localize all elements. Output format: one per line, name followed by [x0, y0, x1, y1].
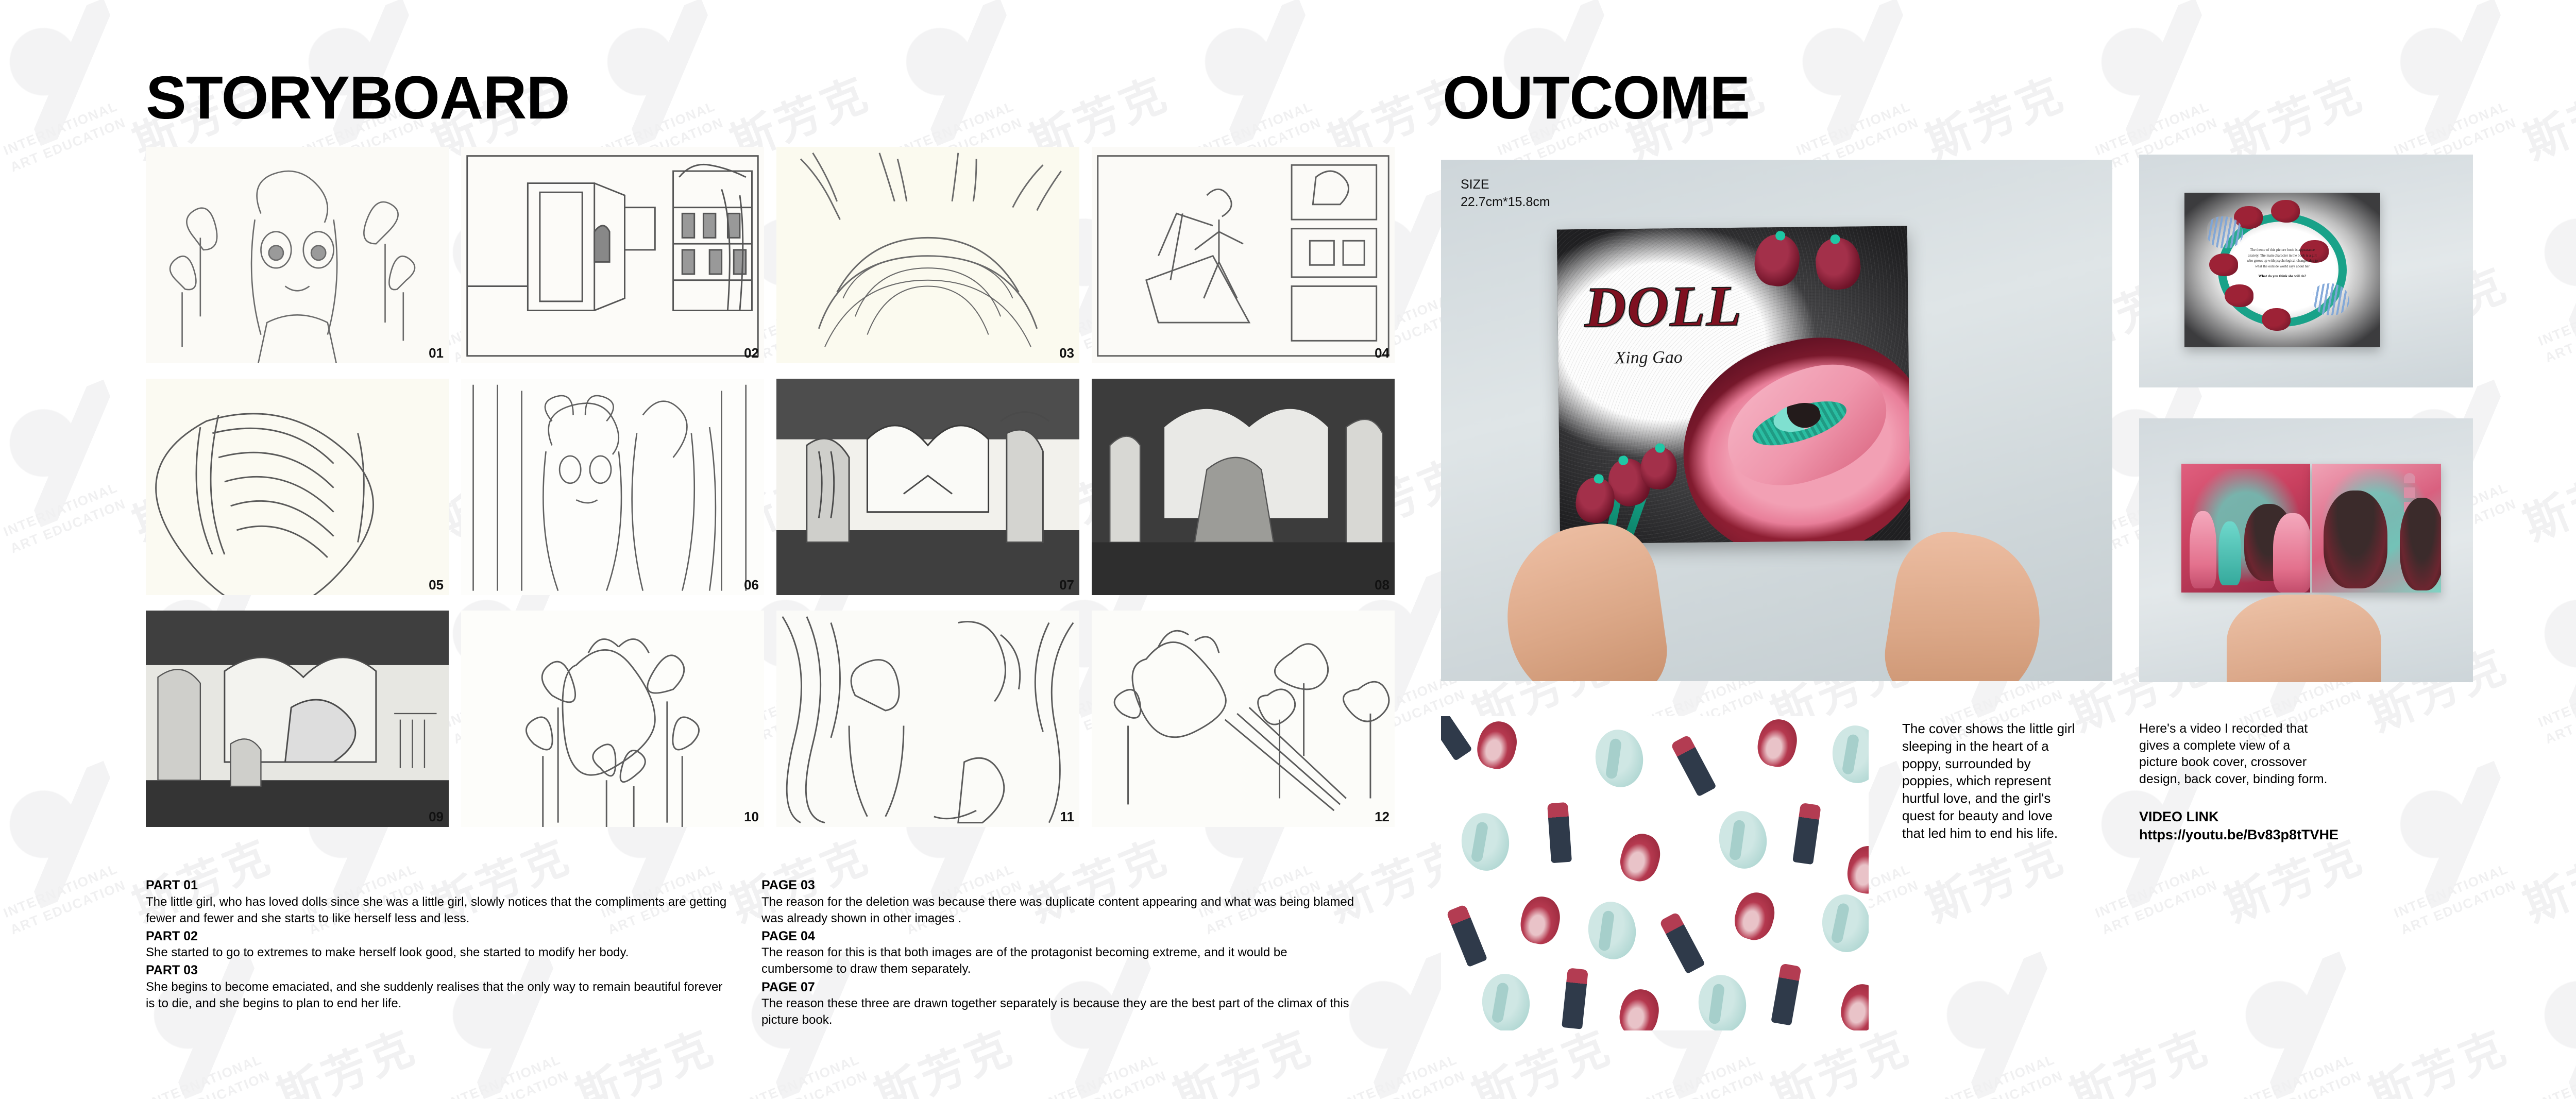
mannequin-dress-teal: [2218, 521, 2241, 585]
storyboard-frame-number: 03: [1059, 345, 1074, 361]
storyboard-sketch-mannequins-dark-room: [1092, 379, 1395, 595]
storyboard-sketch-ribcage-study: [146, 379, 449, 595]
watermark-logo-icon: [0, 761, 146, 908]
watermark-text: INTERNATIONALART EDUCATION: [1, 97, 129, 177]
girl-face-figure: [2324, 491, 2387, 588]
caption-heading: PAGE 07: [761, 979, 1359, 996]
book-page-right: [2312, 464, 2441, 593]
watermark-text: INTERNATIONALART EDUCATION: [2093, 859, 2221, 939]
storyboard-frame[interactable]: 01: [146, 147, 449, 363]
nail-polish-icon: [1517, 893, 1564, 947]
watermark-logo-icon: [2234, 952, 2382, 1099]
nail-polish-icon: [1616, 986, 1663, 1030]
watermark-logo-icon: [2533, 570, 2576, 718]
watermark-text: INTERNATIONALART EDUCATION: [2536, 1050, 2576, 1099]
size-label-text: SIZE: [1461, 177, 1489, 192]
pill-icon: [1716, 808, 1771, 872]
book-back-cover: The theme of this picture book is appear…: [2184, 193, 2380, 347]
watermark-logo-icon: [1194, 0, 1341, 146]
storyboard-sketch-mirror-horns-long-hair: [461, 379, 764, 595]
watermark-cjk-text: 斯芳克: [1915, 58, 2074, 172]
nail-polish-icon: [1754, 716, 1801, 770]
storyboard-frame-number: 12: [1375, 809, 1389, 825]
lipstick-icon: [1792, 803, 1821, 865]
watermark-text: INTERNATIONALART EDUCATION: [2392, 859, 2519, 939]
page-title-storyboard: STORYBOARD: [146, 63, 570, 133]
caption-heading: PAGE 03: [761, 877, 1359, 894]
watermark-logo-icon: [0, 380, 146, 527]
storyboard-frame-number: 09: [429, 809, 444, 825]
book-cover-author: Xing Gao: [1615, 348, 1683, 368]
lipstick-icon: [1659, 911, 1705, 974]
book-page-left: [2181, 464, 2310, 593]
caption-heading: PART 01: [146, 877, 728, 894]
watermark-logo-icon: [2533, 189, 2576, 336]
caption-body: She started to go to extremes to make he…: [146, 944, 728, 961]
storyboard-grid: 01 02: [146, 147, 1395, 837]
storyboard-frame[interactable]: 12: [1092, 611, 1395, 827]
watermark-text: INTERNATIONALART EDUCATION: [1341, 1050, 1468, 1099]
back-cover-theme-text: The theme of this picture book is appear…: [2247, 248, 2318, 268]
page-title-outcome: OUTCOME: [1443, 63, 1750, 133]
mannequin-dress-gown: [2273, 513, 2310, 593]
caption-body: She begins to become emaciated, and she …: [146, 979, 728, 1012]
watermark-text: INTERNATIONALART EDUCATION: [444, 1050, 572, 1099]
back-cover-blurb: The theme of this picture book is appear…: [2246, 247, 2318, 279]
caption-heading: PART 02: [146, 928, 728, 945]
watermark-cjk-text: 斯芳克: [2513, 820, 2576, 935]
watermark-cjk-text: 斯芳克: [2513, 439, 2576, 553]
storyboard-frame[interactable]: 08: [1092, 379, 1395, 595]
pill-icon: [1820, 893, 1869, 954]
video-description-text: Here's a video I recorded that gives a c…: [2139, 720, 2331, 787]
wreath-poppy-icon: [2209, 253, 2238, 276]
design-board: INTERNATIONALART EDUCATION斯芳克INTERNATION…: [0, 0, 2576, 1099]
watermark-text: INTERNATIONALART EDUCATION: [2237, 1050, 2365, 1099]
storyboard-frame-number: 07: [1059, 577, 1074, 593]
storyboard-frame[interactable]: 07: [776, 379, 1079, 595]
storyboard-frame[interactable]: 06: [461, 379, 764, 595]
size-annotation: SIZE 22.7cm*15.8cm: [1461, 176, 1550, 211]
video-link-label: VIDEO LINK: [2139, 808, 2340, 826]
watermark-text: INTERNATIONALART EDUCATION: [2536, 669, 2576, 749]
storyboard-sketch-curtains-figures-arch: [776, 611, 1079, 827]
video-link-block: VIDEO LINK https://youtu.be/Bv83p8tTVHE: [2139, 808, 2340, 843]
mannequin-dress-pink: [2190, 511, 2216, 588]
storyboard-frame-number: 06: [744, 577, 759, 593]
watermark-text: INTERNATIONALART EDUCATION: [2536, 288, 2576, 367]
nail-polish-icon: [1473, 717, 1521, 772]
storyboard-sketch-heart-and-poppy-field: [461, 611, 764, 827]
storyboard-sketch-girl-with-poppies-portrait: [146, 147, 449, 363]
storyboard-sketch-pointing-fingers-over-hair: [776, 147, 1079, 363]
wreath-poppy-icon: [2262, 308, 2291, 331]
storyboard-sketch-girl-on-treadmill: [1092, 147, 1395, 363]
pill-icon: [1479, 971, 1532, 1030]
outcome-open-spread-photo: [2139, 418, 2473, 682]
storyboard-sketch-heart-arch-skeleton-hands: [776, 379, 1079, 595]
video-link-url[interactable]: https://youtu.be/Bv83p8tTVHE: [2139, 826, 2340, 844]
wreath-poppy-icon: [2225, 284, 2253, 307]
outcome-main-photo: SIZE 22.7cm*15.8cm DOLL Xing Gao: [1441, 160, 2112, 681]
outcome-back-cover-photo: The theme of this picture book is appear…: [2139, 155, 2473, 387]
caption-heading: PART 03: [146, 962, 728, 979]
watermark-text: INTERNATIONALART EDUCATION: [145, 1050, 273, 1099]
watermark-logo-icon: [0, 0, 146, 146]
storyboard-frame[interactable]: 05: [146, 379, 449, 595]
caption-body: The reason for this is that both images …: [761, 944, 1359, 977]
watermark-logo-icon: [895, 0, 1042, 146]
girl-hair-figure: [2400, 498, 2441, 590]
lipstick-pill-pattern: [1441, 716, 1869, 1030]
watermark-logo-icon: [2090, 0, 2238, 146]
watermark-logo-icon: [1791, 0, 1939, 146]
watermark-logo-icon: [1936, 952, 2083, 1099]
hands-holding-book: [2227, 595, 2381, 682]
watermark-logo-icon: [2533, 952, 2576, 1099]
pill-icon: [1829, 723, 1869, 785]
storyboard-frame-number: 08: [1375, 577, 1389, 593]
watermark-text: INTERNATIONALART EDUCATION: [1, 859, 129, 939]
size-value-text: 22.7cm*15.8cm: [1461, 194, 1550, 211]
storyboard-captions-left: PART 01The little girl, who has loved do…: [146, 876, 728, 1013]
caption-heading: PAGE 04: [761, 928, 1359, 945]
lipstick-icon: [1547, 802, 1572, 864]
nail-polish-icon: [1844, 843, 1869, 896]
storyboard-frame-number: 04: [1375, 345, 1389, 361]
pill-icon: [1585, 899, 1640, 962]
nail-polish-icon: [1730, 888, 1780, 944]
watermark-text: INTERNATIONALART EDUCATION: [1938, 1050, 2066, 1099]
storyboard-sketch-body-on-table-wardrobe: [146, 611, 449, 827]
storyboard-frame[interactable]: 03: [776, 147, 1079, 363]
watermark-cjk-text: 斯芳克: [2513, 58, 2576, 172]
cover-description-text: The cover shows the little girl sleeping…: [1902, 720, 2078, 842]
watermark-logo-icon: [2389, 761, 2536, 908]
ribcage-icon: [2207, 216, 2243, 248]
wreath-poppy-icon: [2271, 200, 2300, 223]
watermark-cjk-text: 斯芳克: [565, 1011, 724, 1099]
pill-icon: [1592, 726, 1647, 790]
caption-body: The little girl, who has loved dolls sin…: [146, 894, 728, 927]
hand-right: [1878, 524, 2053, 681]
lipstick-icon: [1670, 734, 1717, 797]
nail-polish-icon: [1616, 830, 1665, 886]
watermark-text: INTERNATIONALART EDUCATION: [1, 478, 129, 558]
pill-icon: [1695, 972, 1750, 1030]
storyboard-frame[interactable]: 10: [461, 611, 764, 827]
pill-icon: [1459, 810, 1512, 873]
watermark-cjk-text: 斯芳克: [2358, 1011, 2517, 1099]
watermark-cjk-text: 斯芳克: [2059, 1011, 2218, 1099]
storyboard-frame[interactable]: 11: [776, 611, 1079, 827]
storyboard-frame[interactable]: 04: [1092, 147, 1395, 363]
watermark-text: INTERNATIONALART EDUCATION: [1639, 1050, 1767, 1099]
lipstick-icon: [1446, 904, 1488, 968]
storyboard-frame-number: 01: [429, 345, 444, 361]
book-cover-title: DOLL: [1584, 273, 1743, 341]
lipstick-icon: [1441, 716, 1472, 761]
caption-body: The reason these three are drawn togethe…: [761, 995, 1359, 1028]
lipstick-icon: [1771, 963, 1802, 1025]
book-cover-front: DOLL Xing Gao: [1557, 226, 1910, 544]
watermark-text: INTERNATIONALART EDUCATION: [743, 1050, 871, 1099]
watermark-logo-icon: [2389, 0, 2536, 146]
storyboard-captions-right: PAGE 03The reason for the deletion was b…: [761, 876, 1359, 1029]
storyboard-frame-number: 10: [744, 809, 759, 825]
storyboard-frame-number: 11: [1060, 809, 1075, 825]
storyboard-frame[interactable]: 02: [461, 147, 764, 363]
watermark-logo-icon: [596, 0, 743, 146]
nail-polish-icon: [1837, 980, 1869, 1030]
storyboard-frame-number: 02: [744, 345, 759, 361]
caption-body: The reason for the deletion was because …: [761, 894, 1359, 927]
watermark-cjk-text: 斯芳克: [266, 1011, 425, 1099]
storyboard-frame[interactable]: 09: [146, 611, 449, 827]
lipstick-icon: [1562, 968, 1588, 1029]
back-cover-question-text: What do you think she will do?: [2246, 274, 2318, 279]
storyboard-sketch-open-door-doll-cabinet: [461, 147, 764, 363]
watermark-text: INTERNATIONALART EDUCATION: [1042, 1050, 1170, 1099]
storyboard-sketch-poppies-and-organs: [1092, 611, 1395, 827]
storyboard-frame-number: 05: [429, 577, 444, 593]
ribcage-icon: [2313, 283, 2349, 315]
